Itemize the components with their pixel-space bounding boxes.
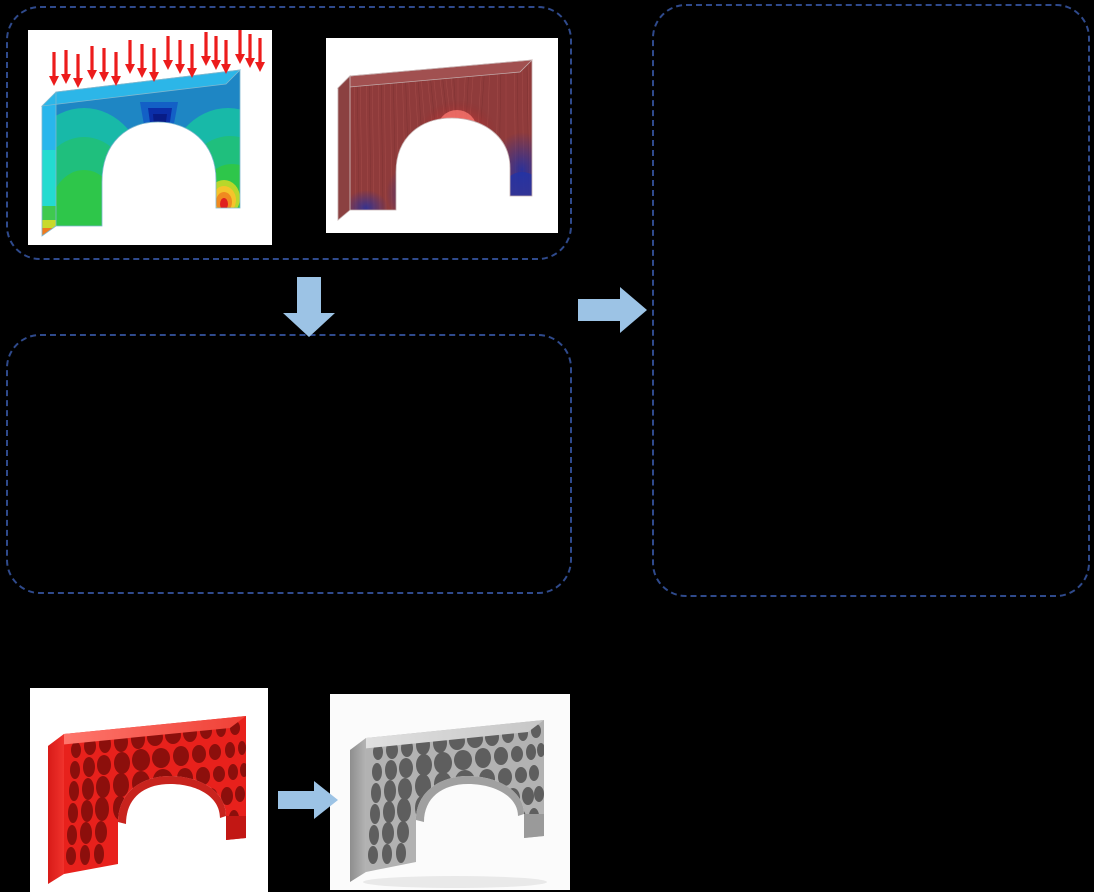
gray-model-svg: [330, 694, 570, 890]
finite-element-simulation-panel: Finite element stress contour of arch bl…: [6, 6, 572, 260]
fea-contour-svg: [28, 30, 272, 245]
porous-structure-design-panel: Adaptive anisotropic porous structure mo…: [6, 334, 572, 594]
fea-stress-contour: Finite element stress contour of arch bl…: [28, 30, 272, 245]
gray-printed-model: Fabricated adaptive anisotropic porous s…: [330, 694, 570, 890]
experimental-validation-panel: Quasi-static compression test of printed…: [652, 4, 1090, 597]
red-model-svg: [30, 688, 268, 892]
arrow-design-to-print: [278, 779, 340, 821]
stress-trajectory-field: Principal stress trajectory field of arc…: [326, 38, 558, 233]
red-porous-model: Adaptive anisotropic porous structure mo…: [30, 688, 268, 892]
arrow-design-to-experiment: [578, 286, 648, 334]
arrow-simulation-to-design: [281, 277, 337, 339]
trajectory-svg: [326, 38, 558, 233]
